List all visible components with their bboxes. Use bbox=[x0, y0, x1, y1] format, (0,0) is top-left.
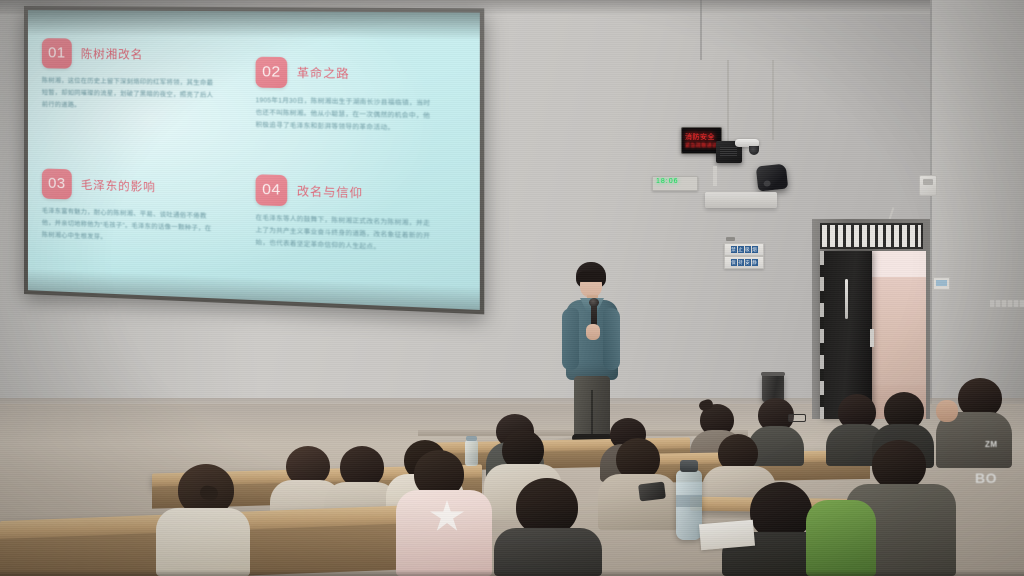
door-handle[interactable] bbox=[845, 279, 848, 319]
door-lock-icon[interactable] bbox=[870, 329, 874, 347]
wall-outlet-strip[interactable] bbox=[990, 300, 1024, 307]
slide-item-title: 改名与信仰 bbox=[297, 183, 363, 202]
ceiling-mount-rod bbox=[772, 60, 774, 140]
student-hand bbox=[936, 400, 958, 422]
smartphone[interactable] bbox=[638, 481, 666, 501]
projector-screen: 01 陈树湘改名 陈树湘，这位在历史上留下深刻烙印的红军将领，其生命最短暂，却如… bbox=[24, 6, 484, 314]
slide-item-body: 在毛泽东等人的鼓舞下，陈树湘正式改名为陈树湘，并走上了为共产主义事业奋斗终身的道… bbox=[256, 212, 437, 256]
student-body-green bbox=[806, 500, 876, 576]
eyeglasses-icon bbox=[788, 414, 806, 422]
student-head bbox=[872, 440, 926, 490]
light-switch[interactable] bbox=[919, 175, 937, 196]
sign-char: 止 bbox=[738, 246, 744, 253]
slide-content: 01 陈树湘改名 陈树湘，这位在历史上留下深刻烙印的红军将领，其生命最短暂，却如… bbox=[42, 38, 464, 286]
classroom-photo: 01 陈树湘改名 陈树湘，这位在历史上留下深刻烙印的红军将领，其生命最短暂，却如… bbox=[0, 0, 1024, 576]
right-wall-panel bbox=[930, 0, 1024, 430]
microphone-head-icon bbox=[589, 298, 599, 307]
slide-item-01: 01 陈树湘改名 陈树湘，这位在历史上留下深刻烙印的红军将领，其生命最短暂，却如… bbox=[42, 38, 239, 155]
slide-item-title: 陈树湘改名 bbox=[81, 46, 143, 63]
sign-char: 吸 bbox=[745, 246, 751, 253]
wall-seam-upper bbox=[700, 0, 702, 60]
presenter-hair-fringe bbox=[577, 271, 605, 282]
wall-sign-no-smoking: 禁 止 吸 烟 bbox=[724, 243, 764, 256]
wall-hook bbox=[713, 166, 717, 186]
presenter-left-arm bbox=[562, 308, 579, 370]
student-body bbox=[396, 490, 492, 576]
slide-item-number: 03 bbox=[42, 168, 72, 199]
sign-char: 安 bbox=[745, 259, 751, 266]
led-clock-value: 18:06 bbox=[656, 178, 679, 185]
sign-char: 持 bbox=[738, 259, 744, 266]
classroom-door[interactable] bbox=[812, 219, 930, 419]
slide-item-body: 1905年1月30日，陈树湘出生于湖南长沙县福临镇，当时也还不叫陈树湘。他从小聪… bbox=[256, 95, 437, 136]
slide-item-title: 革命之路 bbox=[297, 64, 350, 81]
transom-grille bbox=[822, 225, 921, 247]
hallway-upper-wall bbox=[868, 251, 926, 277]
foreground-shadow bbox=[0, 570, 1024, 576]
led-sign-line2: 紧急疏散通道 bbox=[685, 142, 717, 149]
door-transom-window bbox=[820, 223, 923, 249]
projection-surface: 01 陈树湘改名 陈树湘，这位在历史上留下深刻烙印的红军将领，其生命最短暂，却如… bbox=[28, 10, 480, 310]
whiteboard-tray bbox=[705, 192, 777, 208]
sign-bracket bbox=[726, 237, 735, 241]
shirt-print-right: ZM bbox=[985, 440, 998, 449]
slide-item-body: 陈树湘，这位在历史上留下深刻烙印的红军将领，其生命最短暂，却如同璀璨的流星，划破… bbox=[42, 75, 217, 115]
sign-char: 静 bbox=[752, 259, 758, 266]
sign-char: 烟 bbox=[752, 246, 758, 253]
ceiling-mount-rod bbox=[727, 60, 729, 142]
door-edge-strip bbox=[820, 251, 824, 419]
slide-item-number: 04 bbox=[256, 174, 288, 206]
wall-seam bbox=[930, 0, 932, 430]
slide-item-number: 01 bbox=[42, 38, 72, 68]
water-bottle-cap bbox=[680, 460, 698, 472]
slide-item-title: 毛泽东的影响 bbox=[81, 177, 156, 195]
presenter-leg-seam bbox=[591, 390, 593, 438]
shirt-print-left: BO bbox=[975, 470, 997, 486]
slide-item-body: 毛泽东富有魅力，耐心的陈树湘、平易、谈吐通俗不倦教他，并亲切地称他为“毛孩子”。… bbox=[42, 206, 217, 249]
paper-sheet bbox=[699, 520, 755, 551]
presenter-right-arm bbox=[603, 308, 620, 370]
student-body bbox=[494, 528, 602, 576]
sign-char: 保 bbox=[731, 259, 737, 266]
water-bottle-band bbox=[676, 495, 702, 507]
wall-socket-plate[interactable] bbox=[933, 277, 950, 290]
door-leaf[interactable] bbox=[820, 251, 872, 419]
student-body bbox=[156, 508, 250, 576]
presenter-hands bbox=[586, 324, 600, 340]
student-presenter bbox=[556, 262, 628, 442]
led-clock-display: 18:06 bbox=[652, 176, 698, 191]
student-body bbox=[598, 474, 678, 530]
wall-sign-keep-quiet: 保 持 安 静 bbox=[724, 256, 764, 269]
ceiling-speaker bbox=[756, 164, 788, 192]
slide-item-02: 02 革命之路 1905年1月30日，陈树湘出生于湖南长沙县福临镇，当时也还不叫… bbox=[256, 40, 465, 161]
sign-char: 禁 bbox=[731, 246, 737, 253]
slide-item-04: 04 改名与信仰 在毛泽东等人的鼓舞下，陈树湘正式改名为陈树湘，并走上了为共产主… bbox=[256, 162, 465, 286]
slide-item-number: 02 bbox=[256, 57, 288, 88]
small-bottle-cap bbox=[466, 436, 477, 441]
small-bottle bbox=[465, 440, 478, 466]
led-sign-line1: 消防安全 bbox=[685, 132, 715, 142]
screen-top-gradient bbox=[28, 10, 480, 40]
slide-item-03: 03 毛泽东的影响 毛泽东富有魅力，耐心的陈树湘、平易、谈吐通俗不倦教他，并亲切… bbox=[42, 156, 239, 276]
